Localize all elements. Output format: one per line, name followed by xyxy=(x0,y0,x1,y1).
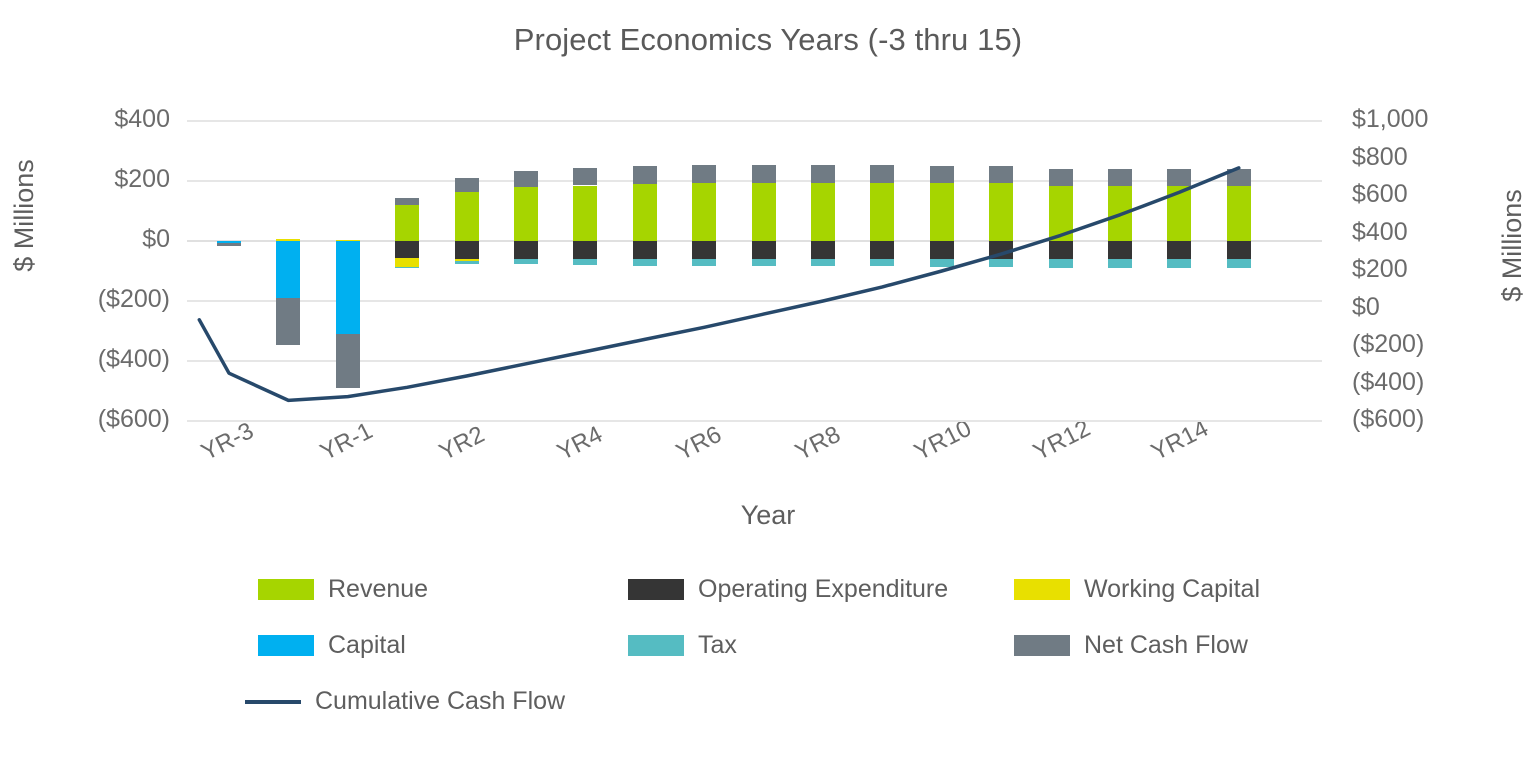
legend-label: Working Capital xyxy=(1084,575,1260,604)
right-axis-tick-label: $600 xyxy=(1352,180,1536,209)
right-axis-tick-label: $400 xyxy=(1352,218,1536,247)
legend-item[interactable]: Operating Expenditure xyxy=(628,575,948,604)
legend-item[interactable]: Net Cash Flow xyxy=(1014,631,1248,660)
legend-label: Cumulative Cash Flow xyxy=(315,687,565,716)
right-axis-tick-label: $800 xyxy=(1352,143,1536,172)
legend-item[interactable]: Revenue xyxy=(258,575,428,604)
legend-swatch xyxy=(258,635,314,656)
legend-item[interactable]: Working Capital xyxy=(1014,575,1260,604)
legend-swatch xyxy=(628,579,684,600)
x-axis-title: Year xyxy=(0,500,1536,531)
legend-label: Net Cash Flow xyxy=(1084,631,1248,660)
left-axis-tick-label: ($600) xyxy=(0,405,170,434)
legend-item[interactable]: Cumulative Cash Flow xyxy=(245,687,565,716)
legend-label: Capital xyxy=(328,631,406,660)
legend-swatch xyxy=(1014,635,1070,656)
right-axis-tick-label: $1,000 xyxy=(1352,105,1536,134)
chart-title: Project Economics Years (-3 thru 15) xyxy=(0,22,1536,58)
right-axis-tick-label: $200 xyxy=(1352,255,1536,284)
legend-swatch xyxy=(258,579,314,600)
chart-container: Project Economics Years (-3 thru 15) $ M… xyxy=(0,0,1536,760)
legend-label: Tax xyxy=(698,631,737,660)
legend-swatch xyxy=(1014,579,1070,600)
left-axis-tick-label: ($200) xyxy=(0,285,170,314)
right-axis-tick-label: $0 xyxy=(1352,293,1536,322)
left-axis-tick-label: $200 xyxy=(0,165,170,194)
legend-item[interactable]: Tax xyxy=(628,631,737,660)
legend-swatch xyxy=(628,635,684,656)
legend-line-marker xyxy=(245,700,301,704)
legend-item[interactable]: Capital xyxy=(258,631,406,660)
left-axis-tick-label: $0 xyxy=(0,225,170,254)
left-axis-tick-label: ($400) xyxy=(0,345,170,374)
legend-label: Operating Expenditure xyxy=(698,575,948,604)
legend-label: Revenue xyxy=(328,575,428,604)
cumulative-cash-flow-line xyxy=(187,100,1347,440)
right-axis-tick-label: ($400) xyxy=(1352,368,1536,397)
right-axis-tick-label: ($200) xyxy=(1352,330,1536,359)
right-axis-tick-label: ($600) xyxy=(1352,405,1536,434)
left-axis-tick-label: $400 xyxy=(0,105,170,134)
chart-legend: RevenueOperating ExpenditureWorking Capi… xyxy=(0,575,1536,745)
